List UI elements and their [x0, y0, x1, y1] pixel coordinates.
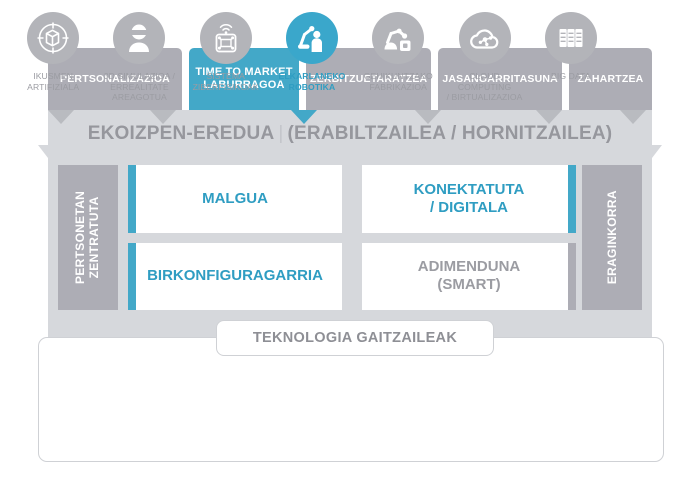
technology-item-label-line1: BIG DATA — [551, 71, 591, 82]
model-cell-adimenduna-smart[interactable]: ADIMENDUNA (SMART) — [362, 243, 576, 311]
accent-bar — [568, 165, 576, 233]
model-side-label-left: PERTSONETAN ZENTRATUTA — [58, 165, 118, 310]
technology-item-label: SISTEMA ZIBERFISIKOAK — [193, 71, 259, 92]
technology-list: IKUSMEN ARTIFIZIALA 3D SIMULAZIOA / ERRE… — [10, 12, 614, 112]
banner-title-left: EKOIZPEN-EREDUA — [88, 123, 275, 145]
technology-item-big-data[interactable]: BIG DATA — [528, 12, 614, 82]
model-attribute-grid: MALGUA KONEKTATUTA / DIGITALA BIRKONFIGU… — [128, 165, 576, 310]
technology-item-label-line1: ELKARLANEKO — [278, 71, 345, 82]
model-cell-label-line1: KONEKTATUTA — [414, 181, 525, 199]
accent-bar — [568, 243, 576, 311]
banner-title-separator: | — [274, 123, 287, 145]
banner-flare-left — [38, 145, 48, 158]
accent-bar — [128, 165, 136, 233]
vr-headset-person-icon — [113, 12, 165, 64]
technology-item-label: 3D SIMULAZIOA / ERREALITATE AREAGOTUA — [96, 71, 182, 103]
machine-vision-icon — [27, 12, 79, 64]
technology-item-3d-simulazioa[interactable]: 3D SIMULAZIOA / ERREALITATE AREAGOTUA — [96, 12, 182, 103]
technology-item-label-line1: GEHIKUNTZAKO — [364, 71, 433, 82]
technology-item-label-line1: CLOUD COMPUTING — [441, 71, 527, 92]
cloud-network-icon — [459, 12, 511, 64]
technology-item-label-line2: ARTIFIZIALA — [27, 82, 79, 93]
model-cell-malgua[interactable]: MALGUA — [128, 165, 342, 233]
technology-item-label: ELKARLANEKO ROBOTIKA — [278, 71, 345, 92]
production-model-banner: EKOIZPEN-EREDUA | (ERABILTZAILEA / HORNI… — [48, 110, 652, 158]
technology-item-label: GEHIKUNTZAKO FABRIKAZIOA — [364, 71, 433, 92]
model-side-label-right: ERAGINKORRA — [582, 165, 642, 310]
technology-item-ikusmen-artifiziala[interactable]: IKUSMEN ARTIFIZIALA — [10, 12, 96, 92]
banner-flare-right — [652, 145, 662, 158]
technology-item-label-line2: FABRIKAZIOA — [364, 82, 433, 93]
technology-item-label: BIG DATA — [551, 71, 591, 82]
model-cell-label-line1: ADIMENDUNA — [418, 258, 521, 276]
banner-title-right: (ERABILTZAILEA / HORNITZAILEA) — [288, 123, 613, 145]
technology-item-gehikuntzako-fabrikazioa[interactable]: GEHIKUNTZAKO FABRIKAZIOA — [355, 12, 441, 92]
technology-item-label: CLOUD COMPUTING / BIRTUALIZAZIOA — [441, 71, 527, 103]
model-cell-label: BIRKONFIGURAGARRIA — [147, 267, 323, 285]
model-cell-label-line2: (SMART) — [418, 276, 521, 294]
technology-heading-label: TEKNOLOGIA GAITZAILEAK — [253, 330, 457, 346]
model-cell-birkonfiguragarria[interactable]: BIRKONFIGURAGARRIA — [128, 243, 342, 311]
technology-item-label-line1: 3D SIMULAZIOA / — [96, 71, 182, 82]
technology-item-label-line1: SISTEMA — [193, 71, 259, 82]
technology-item-label-line2: ZIBERFISIKOAK — [193, 82, 259, 93]
additive-manufacturing-icon — [372, 12, 424, 64]
technology-item-elkarlaneko-robotika[interactable]: ELKARLANEKO ROBOTIKA — [269, 12, 355, 92]
banner-title: EKOIZPEN-EREDUA | (ERABILTZAILEA / HORNI… — [48, 110, 652, 158]
model-cell-konektatuta-digitala[interactable]: KONEKTATUTA / DIGITALA — [362, 165, 576, 233]
technology-item-label-line2: / BIRTUALIZAZIOA — [441, 92, 527, 103]
technology-item-label-line2: ERREALITATE AREAGOTUA — [96, 82, 182, 103]
infographic-root: PERTSONALIZAZIOA TIME TO MARKET LABURRAG… — [0, 0, 700, 487]
accent-bar — [128, 243, 136, 311]
technology-item-cloud-computing[interactable]: CLOUD COMPUTING / BIRTUALIZAZIOA — [441, 12, 527, 103]
side-label-left-line2: ZENTRATUTA — [88, 191, 102, 284]
technology-item-sistema-ziberfisikoak[interactable]: SISTEMA ZIBERFISIKOAK — [183, 12, 269, 92]
technology-heading-pill: TEKNOLOGIA GAITZAILEAK — [216, 320, 494, 356]
side-label-right-line1: ERAGINKORRA — [605, 191, 619, 285]
cyber-physical-system-icon — [200, 12, 252, 64]
database-racks-icon — [545, 12, 597, 64]
technology-item-label: IKUSMEN ARTIFIZIALA — [27, 71, 79, 92]
technology-item-label-line1: IKUSMEN — [27, 71, 79, 82]
technology-item-label-line2: ROBOTIKA — [278, 82, 345, 93]
model-cell-label-line2: / DIGITALA — [414, 199, 525, 217]
side-label-left-line1: PERTSONETAN — [74, 191, 88, 284]
collaborative-robot-icon — [286, 12, 338, 64]
model-cell-label: MALGUA — [202, 190, 268, 208]
